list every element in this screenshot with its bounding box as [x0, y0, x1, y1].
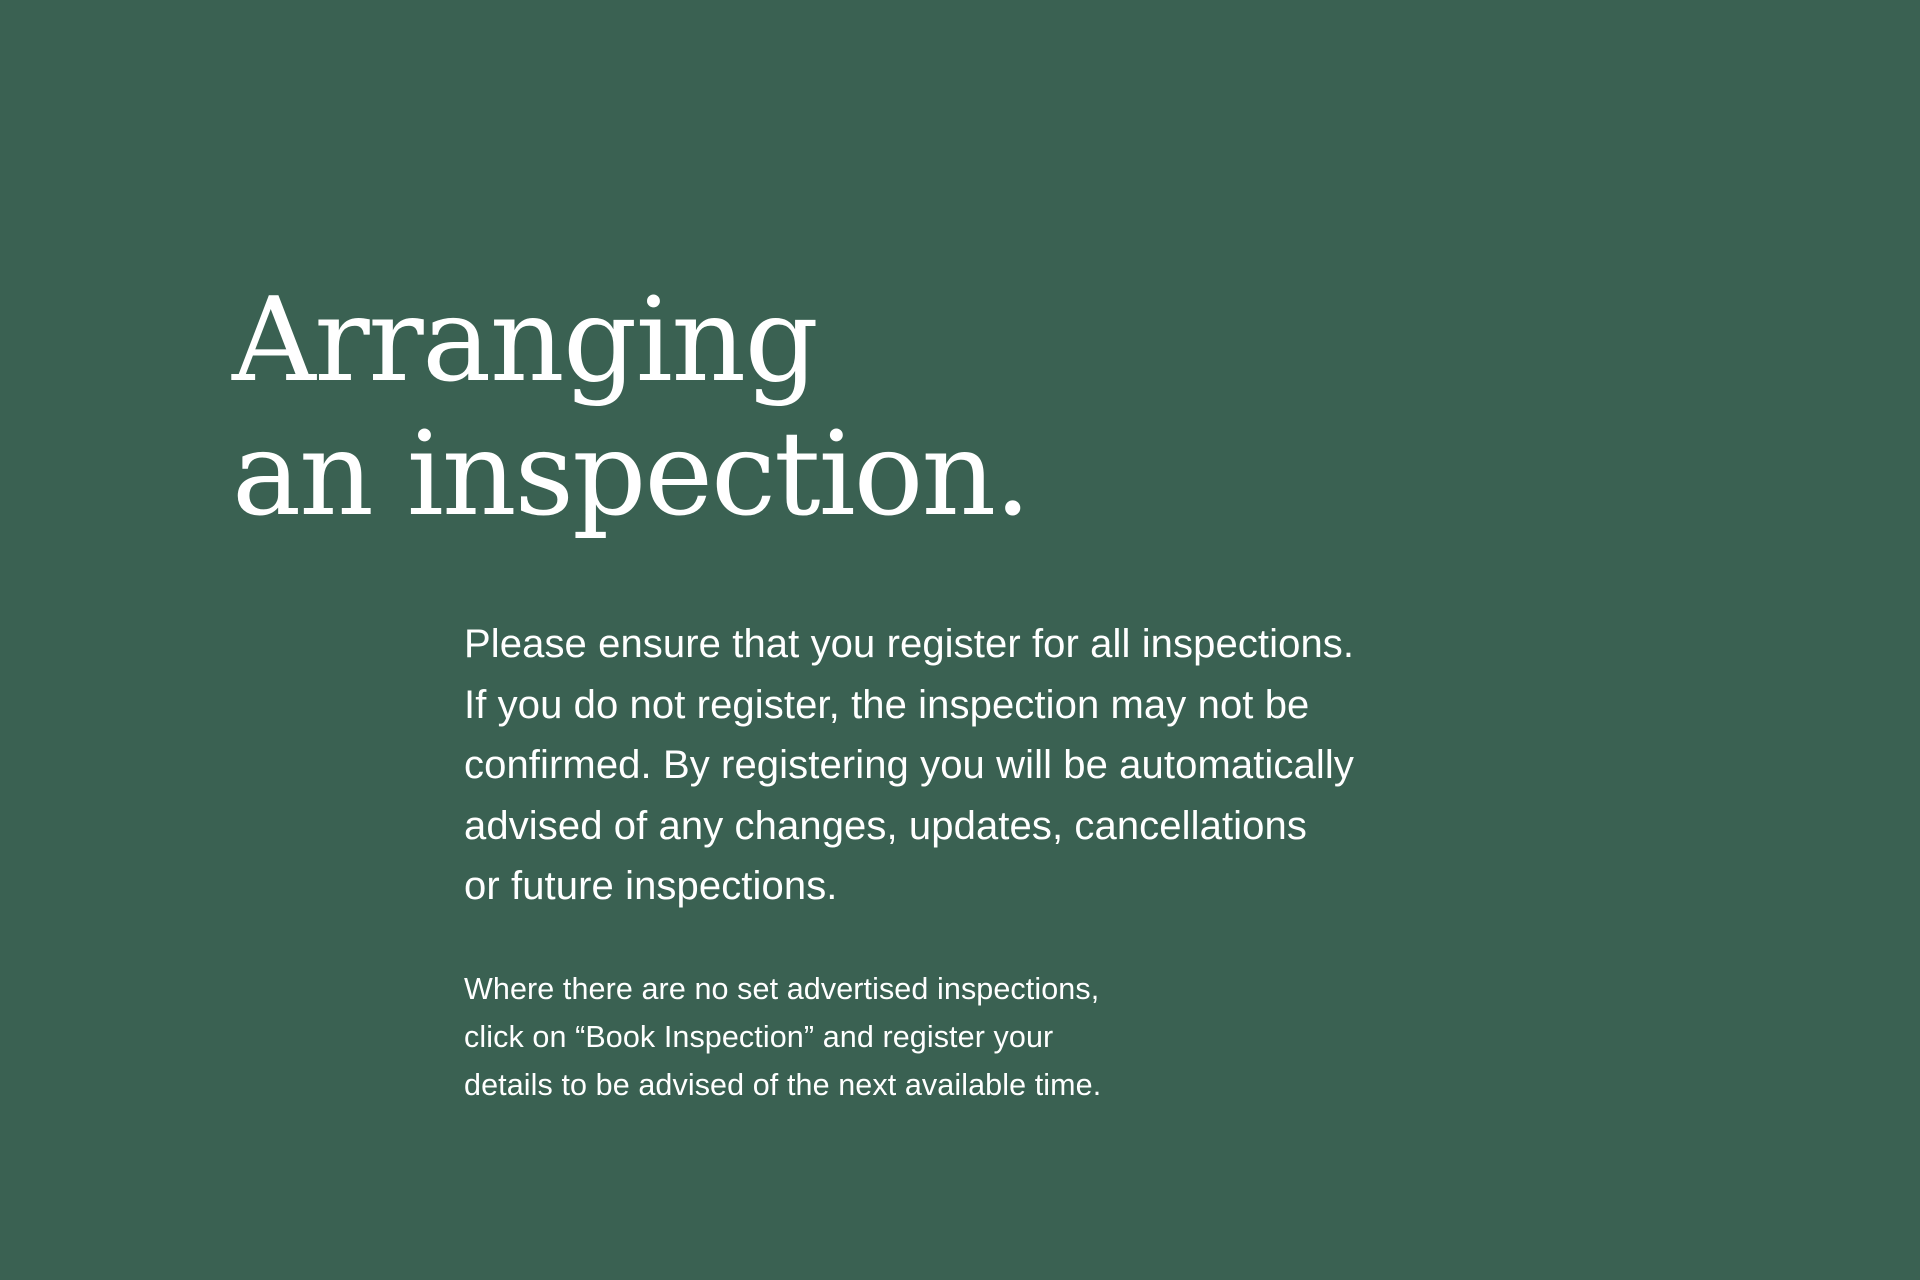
paragraph-1-line-4: advised of any changes, updates, cancell…: [464, 796, 1714, 857]
paragraph-2-line-1: Where there are no set advertised inspec…: [464, 965, 1714, 1013]
paragraph-1-line-2: If you do not register, the inspection m…: [464, 675, 1714, 736]
paragraph-1-line-5: or future inspections.: [464, 856, 1714, 917]
page-title-line-2: an inspection.: [232, 408, 1432, 543]
paragraph-1-line-3: confirmed. By registering you will be au…: [464, 735, 1714, 796]
paragraph-registration-notice: Please ensure that you register for all …: [464, 614, 1714, 917]
paragraph-2-line-3: details to be advised of the next availa…: [464, 1061, 1714, 1109]
body-copy: Please ensure that you register for all …: [464, 614, 1714, 1109]
slide-root: Arranging an inspection. Please ensure t…: [0, 0, 1920, 1280]
page-title: Arranging an inspection.: [232, 274, 1432, 543]
paragraph-book-inspection-note: Where there are no set advertised inspec…: [464, 965, 1714, 1109]
paragraph-1-line-1: Please ensure that you register for all …: [464, 614, 1714, 675]
paragraph-2-line-2: click on “Book Inspection” and register …: [464, 1013, 1714, 1061]
page-title-line-1: Arranging: [232, 274, 1432, 409]
